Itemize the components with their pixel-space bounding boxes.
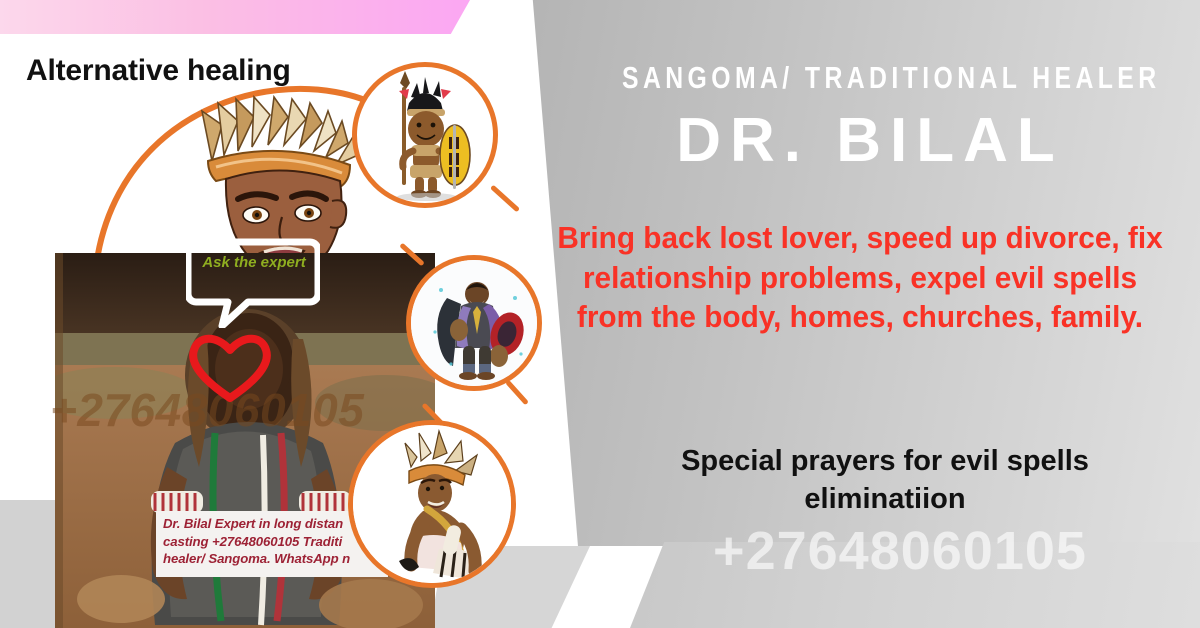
speech-bubble-text: Ask the expert [202,252,306,275]
crouching-warrior-icon [353,425,511,583]
services-paragraph: Bring back lost lover, speed up divorce,… [553,218,1167,337]
circle-crouching-warrior [348,420,516,588]
caption-line-3: healer/ Sangoma. WhatsApp n [163,550,382,568]
healer-name: DR. BILAL [560,105,1180,176]
robed-healer-icon [411,260,537,386]
pink-gradient-band [0,0,470,34]
zulu-warrior-icon [357,67,493,203]
circle-zulu-warrior [352,62,498,208]
prayers-paragraph: Special prayers for evil spells eliminat… [600,443,1170,518]
circle-connector-1 [490,185,520,213]
caption-line-2: casting +27648060105 Traditi [163,533,382,551]
photo-caption-text: Dr. Bilal Expert in long distan casting … [163,515,382,568]
circle-robed-healer [406,255,542,391]
watermark-phone-number: +27648060105 [600,520,1200,582]
heart-annotation-icon [186,330,274,404]
poster-canvas: Alternative healing [0,0,1200,628]
grey-wedge-bottom-left [0,500,58,628]
speech-bubble-icon [186,236,320,328]
photo-left-edge [55,253,63,628]
kicker-heading: SANGOMA/ TRADITIONAL HEALER [622,60,1118,96]
